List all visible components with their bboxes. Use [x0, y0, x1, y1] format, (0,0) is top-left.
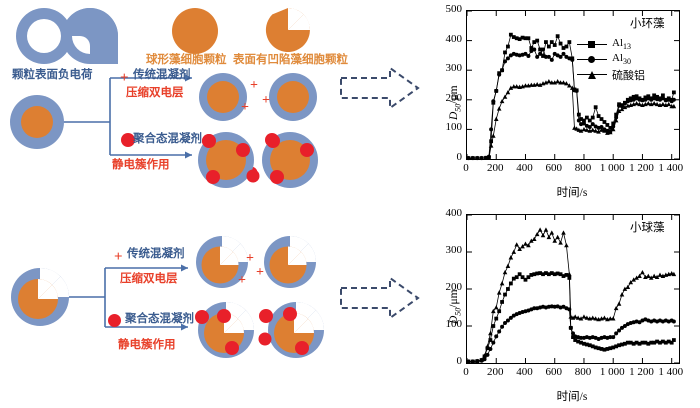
plus-charge-icon: + [241, 101, 249, 115]
label-dented-algae: 表面有凹陷藻细胞颗粒 [233, 55, 348, 67]
core-shell-source-particle [10, 95, 64, 149]
schematic-panel: + + + + + + + + 颗粒表面负电荷 球形藻细胞颗粒 表面有凹陷藻细胞… [0, 0, 440, 408]
y-tick-label: 0 [438, 152, 462, 163]
legend-item-al13: Al13 [577, 37, 645, 52]
y-tick-label: 100 [438, 122, 462, 133]
label-electrostatic-patch-top: 静电簇作用 [112, 160, 170, 172]
y-tick-label: 300 [438, 63, 462, 74]
plot-area-top [466, 10, 680, 160]
dented-core-shell-source [11, 268, 69, 326]
y-tick-label: 400 [438, 34, 462, 45]
polymer-coagulant-icon-bottom [108, 314, 121, 327]
legend-label-al30: Al30 [612, 52, 631, 66]
plus-icon-traditional-bottom: + [114, 250, 123, 265]
arrowhead-bottom-upper [181, 265, 188, 272]
legend-item-al30: Al30 [577, 52, 645, 67]
legend-marker-circle [577, 54, 607, 66]
label-spherical-algae: 球形藻细胞颗粒 [146, 55, 227, 67]
series-layer-top [467, 11, 679, 159]
chart-bottom: 0100200300400 02004006008001 0001 2001 4… [440, 206, 698, 408]
x-tick-label: 1 400 [649, 367, 693, 378]
label-polymeric-coagulant-top: 聚合态混凝剂 [133, 134, 202, 146]
legend-item-aluminium-sulfate: 硫酸铝 [577, 67, 645, 82]
arrowhead-top-lower [185, 152, 192, 159]
dented-hollow-particle [62, 8, 118, 64]
y-axis-title-top: D50/μm [448, 85, 462, 120]
x-axis-title-bottom: 时间/s [466, 388, 678, 404]
chart-title-top: 小环藻 [630, 15, 665, 31]
y-tick-label: 500 [438, 4, 462, 15]
label-electrostatic-patch-bottom: 静电簇作用 [118, 340, 176, 352]
chart-top: 0100200300400500 02004006008001 0001 200… [440, 2, 698, 204]
label-traditional-coagulant-bottom: 传统混凝剂 [127, 249, 185, 261]
spherical-algae-cell [172, 8, 218, 54]
chart-title-bottom: 小球藻 [630, 219, 665, 235]
dented-core-shell-traditional-2 [264, 236, 316, 288]
figure-root: + + + + + + + + 颗粒表面负电荷 球形藻细胞颗粒 表面有凹陷藻细胞… [0, 0, 700, 408]
label-polymeric-coagulant-bottom: 聚合态混凝剂 [125, 314, 194, 326]
y-axis-title-bottom: D50/μm [448, 289, 462, 324]
plus-charge-icon: + [250, 79, 258, 93]
dashed-arrow-bottom [341, 278, 418, 318]
plus-charge-icon: + [238, 274, 246, 288]
legend-top: Al13 Al30 硫酸铝 [577, 37, 645, 82]
dashed-arrow-top [341, 68, 418, 108]
x-axis-title-top: 时间/s [466, 184, 678, 200]
series-layer-bottom [467, 215, 679, 363]
label-compress-double-layer-bottom: 压缩双电层 [120, 274, 178, 286]
plot-area-bottom [466, 214, 680, 364]
plus-icon-traditional-top: + [120, 71, 129, 86]
legend-marker-triangle [577, 69, 607, 81]
plus-charge-icon: + [256, 266, 264, 280]
plus-charge-icon: + [246, 252, 254, 266]
core-shell-traditional-2 [269, 73, 317, 121]
label-compress-double-layer-top: 压缩双电层 [126, 88, 184, 100]
legend-marker-square [577, 39, 607, 51]
x-tick-label: 1 400 [649, 163, 693, 174]
plus-charge-icon: + [262, 94, 270, 108]
y-tick-label: 300 [438, 245, 462, 256]
legend-label-al13: Al13 [612, 37, 631, 51]
label-particle-surface-charge: 颗粒表面负电荷 [12, 70, 93, 82]
core-shell-traditional-1 [199, 73, 247, 121]
label-traditional-coagulant-top: 传统混凝剂 [133, 70, 191, 82]
legend-label-aluminium-sulfate: 硫酸铝 [612, 67, 645, 83]
y-tick-label: 400 [438, 208, 462, 219]
dented-orange-cell-free [266, 8, 310, 52]
y-tick-label: 0 [438, 356, 462, 367]
